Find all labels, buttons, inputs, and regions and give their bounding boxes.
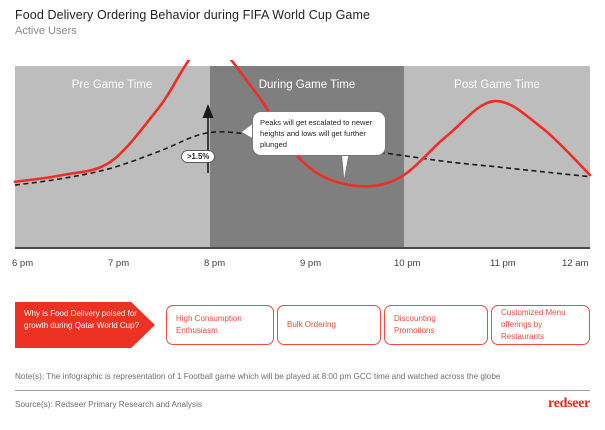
reason-box-4[interactable]: Customized Menu offerings by Restaurants (491, 305, 590, 345)
chart-area: Pre Game Time During Game Time Post Game… (0, 60, 605, 260)
peaks-callout: Peaks will get escalated to newer height… (252, 111, 386, 156)
zone-label-post-game: Post Game Time (454, 79, 540, 91)
redseer-logo: redseer (548, 396, 590, 412)
footer-notes: Note(s): The infographic is representati… (15, 372, 590, 381)
reason-box-1[interactable]: High Consumption Enthusiasm (166, 305, 274, 345)
reason-box-2[interactable]: Bulk Ordering (277, 305, 381, 345)
zone-label-during-game: During Game Time (259, 79, 356, 91)
page-subtitle: Active Users (15, 25, 77, 37)
ordering-behavior-line-chart: Pre Game Time During Game Time Post Game… (0, 60, 605, 260)
zone-band-post-game (404, 66, 590, 248)
reason-box-3[interactable]: Discounting Promotions (384, 305, 488, 345)
footer-source: Source(s): Redseer Primary Research and … (15, 400, 202, 409)
peak-uplift-badge: >1.5% (181, 150, 215, 163)
footer-divider (15, 390, 590, 391)
x-tick-0: 6 pm (12, 258, 33, 269)
page-title: Food Delivery Ordering Behavior during F… (15, 8, 370, 22)
zone-bands (15, 66, 590, 248)
zone-label-pre-game: Pre Game Time (72, 79, 153, 91)
zone-band-during-game (210, 66, 404, 248)
x-tick-6: 12 am (562, 258, 588, 269)
x-tick-2: 8 pm (204, 258, 225, 269)
x-tick-4: 10 pm (394, 258, 420, 269)
x-tick-5: 11 pm (490, 258, 516, 269)
x-axis-labels: 6 pm 7 pm 8 pm 9 pm 10 pm 11 pm 12 am (0, 258, 605, 278)
x-tick-1: 7 pm (108, 258, 129, 269)
x-tick-3: 9 pm (300, 258, 321, 269)
reasons-row: Why is Food Delivery poised for growth d… (0, 300, 605, 352)
reasons-banner: Why is Food Delivery poised for growth d… (15, 302, 155, 348)
